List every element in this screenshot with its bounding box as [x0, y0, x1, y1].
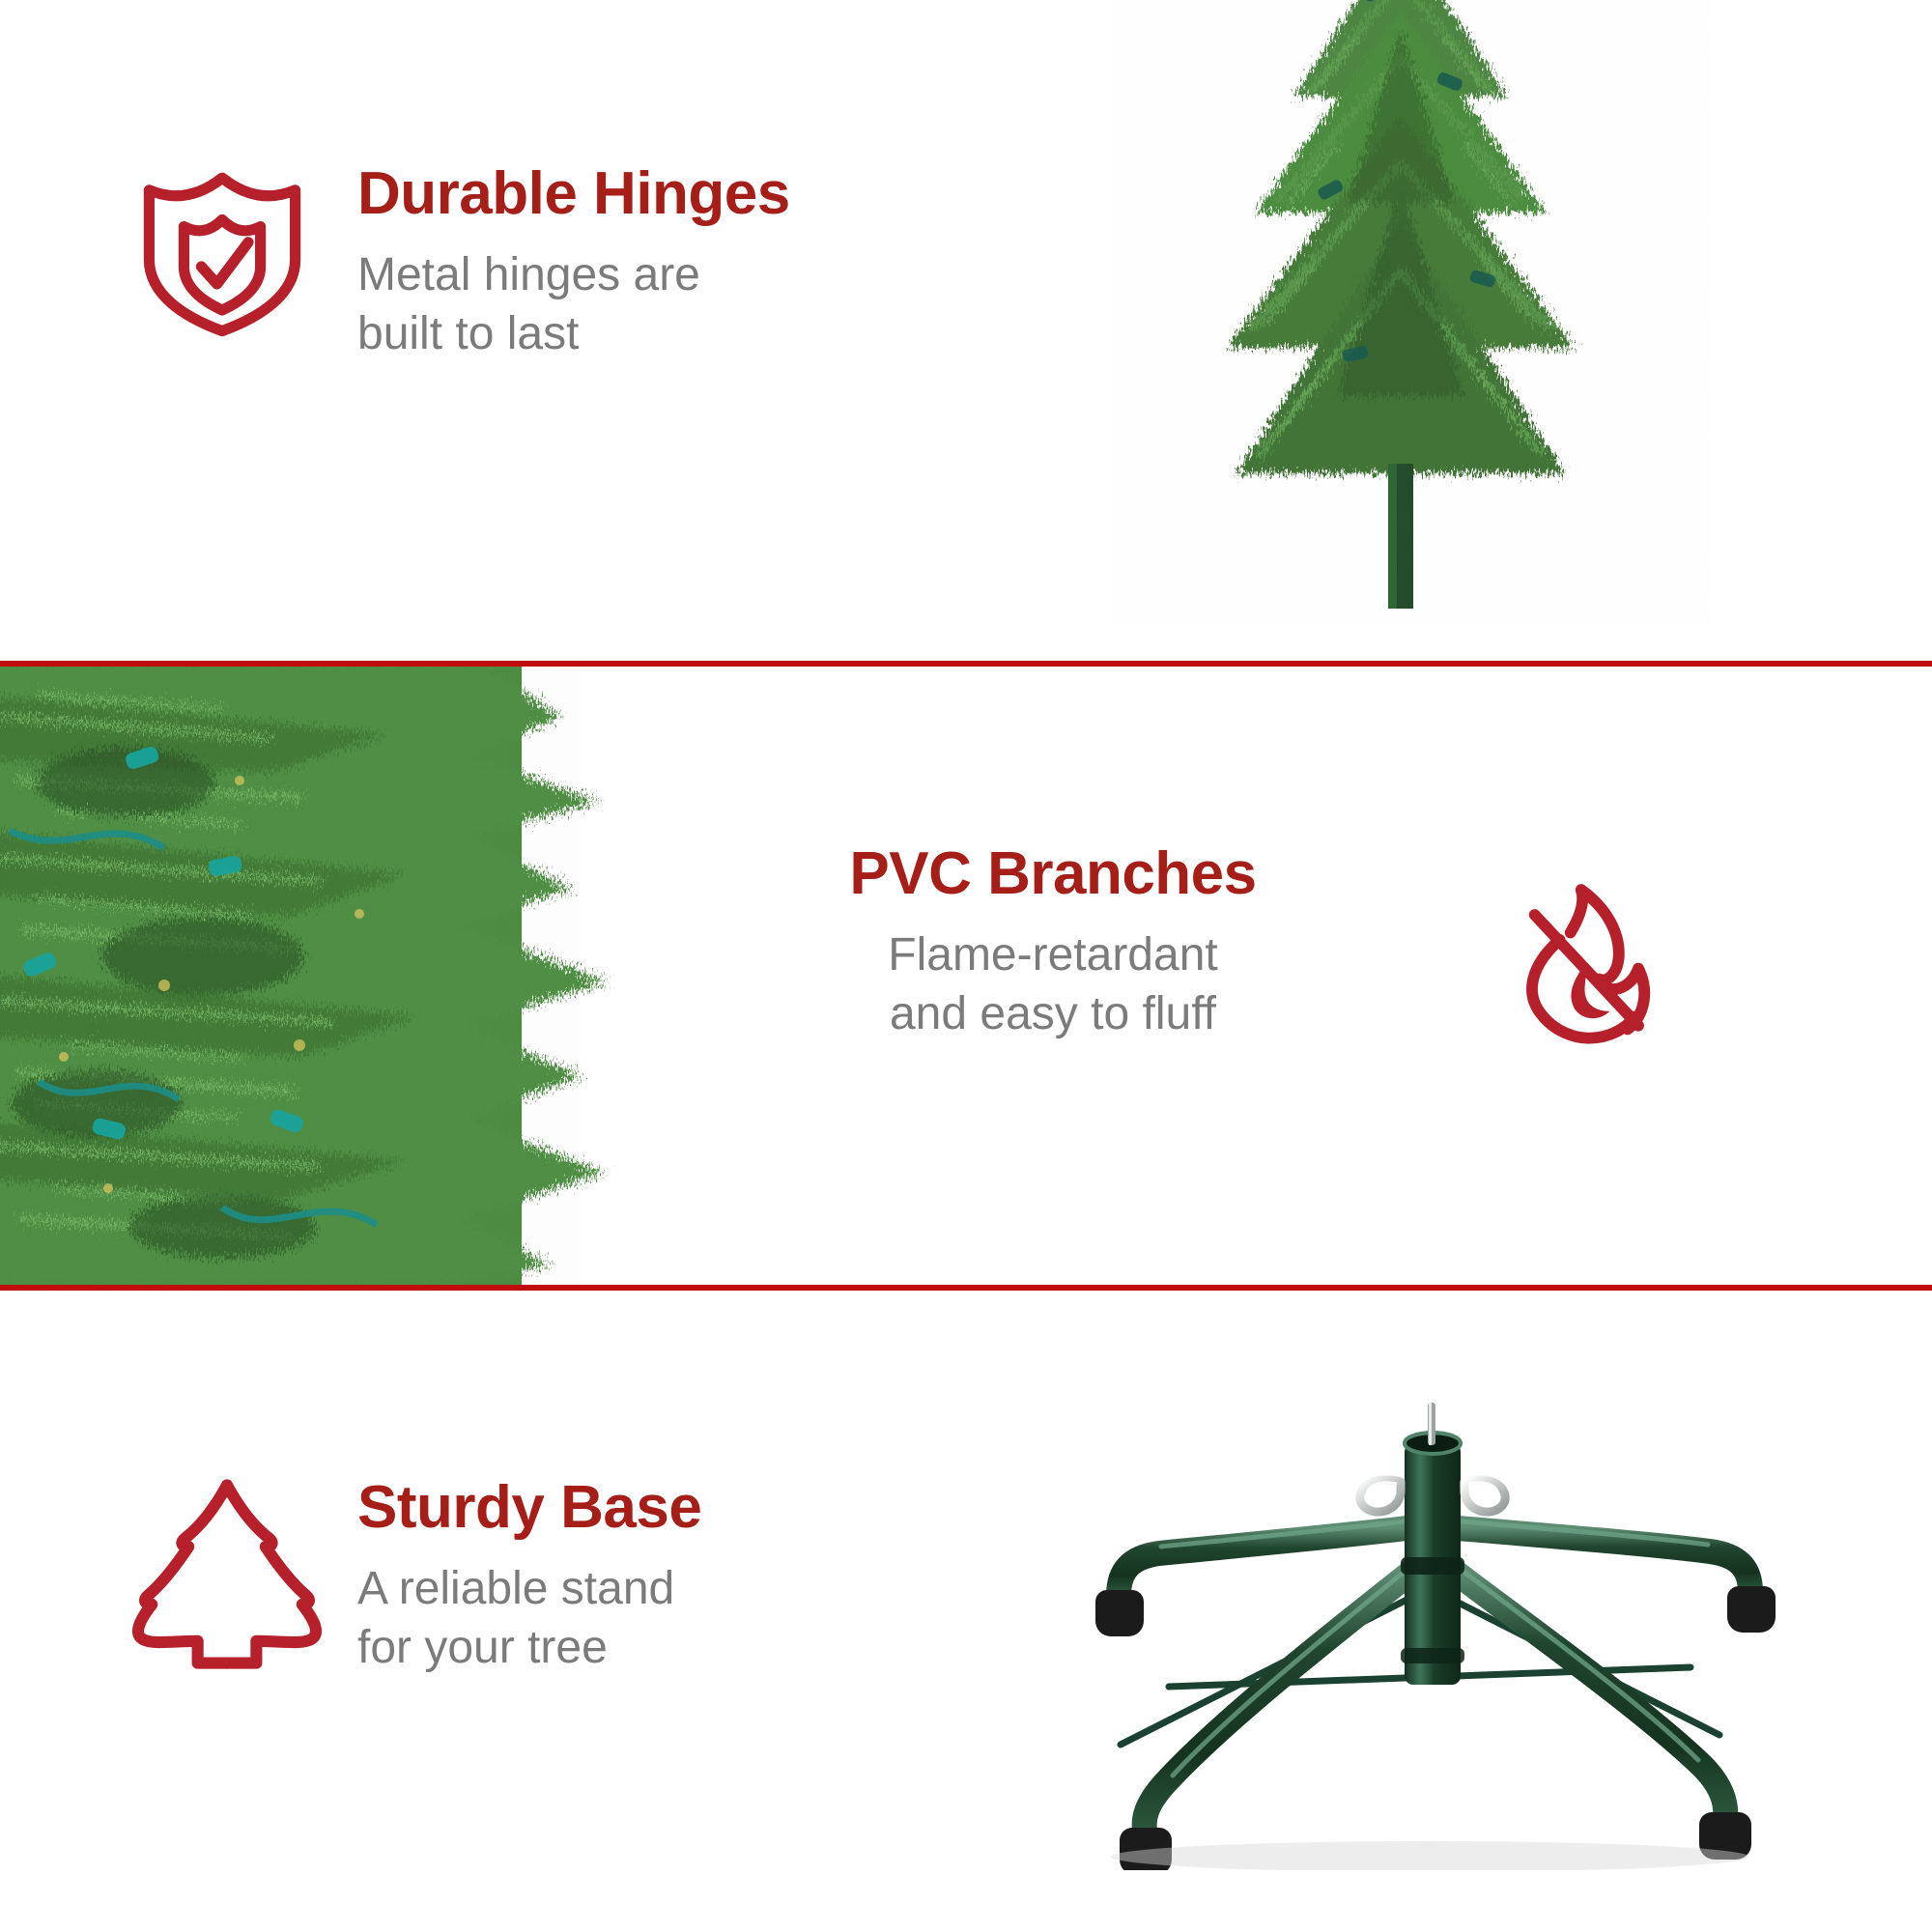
feature-text-durable-hinges: Durable Hinges Metal hinges are built to…	[357, 162, 790, 363]
infographic-page: Durable Hinges Metal hinges are built to…	[0, 0, 1932, 1932]
feature-desc-line: Metal hinges are	[357, 246, 790, 304]
no-flame-icon	[1495, 879, 1674, 1058]
feature-desc-sturdy-base: A reliable stand for your tree	[357, 1560, 701, 1677]
feature-panel-sturdy-base: Sturdy Base A reliable stand for your tr…	[0, 1291, 1932, 1932]
feature-desc-pvc-branches: Flame-retardant and easy to fluff	[763, 926, 1343, 1043]
feature-panel-pvc-branches: PVC Branches Flame-retardant and easy to…	[0, 667, 1932, 1285]
feature-title-sturdy-base: Sturdy Base	[357, 1476, 701, 1539]
feature-desc-line: A reliable stand	[357, 1560, 701, 1618]
feature-desc-durable-hinges: Metal hinges are built to last	[357, 246, 790, 363]
feature-text-pvc-branches: PVC Branches Flame-retardant and easy to…	[763, 842, 1343, 1043]
feature-title-pvc-branches: PVC Branches	[763, 842, 1343, 905]
feature-desc-line: for your tree	[357, 1619, 701, 1677]
feature-panel-durable-hinges: Durable Hinges Metal hinges are built to…	[0, 0, 1932, 661]
tree-branch-closeup-photo	[0, 667, 753, 1285]
feature-desc-line: Flame-retardant	[763, 926, 1343, 984]
christmas-tree-top-photo	[1111, 0, 1710, 628]
tree-stand-photo	[976, 1329, 1845, 1870]
shield-check-icon	[135, 162, 309, 336]
feature-desc-line: built to last	[357, 305, 790, 363]
feature-text-sturdy-base: Sturdy Base A reliable stand for your tr…	[357, 1476, 701, 1677]
christmas-tree-outline-icon	[135, 1476, 319, 1674]
feature-title-durable-hinges: Durable Hinges	[357, 162, 790, 225]
feature-desc-line: and easy to fluff	[763, 985, 1343, 1043]
